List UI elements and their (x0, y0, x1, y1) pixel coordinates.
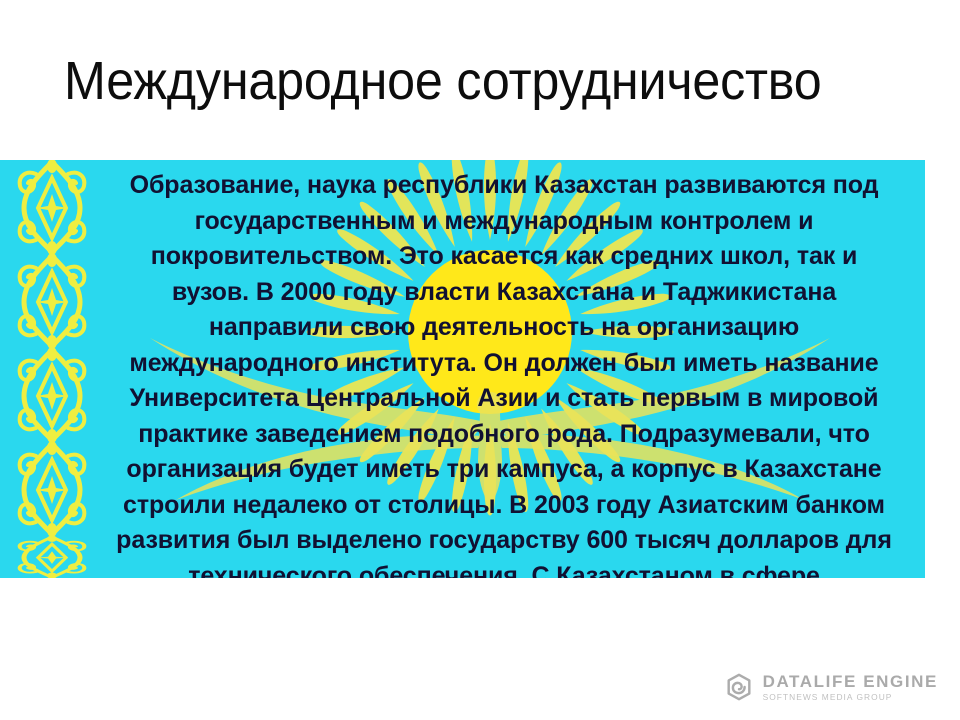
body-line: Университета Центральной Азии и стать пе… (96, 381, 912, 417)
body-line: государственным и международным контроле… (96, 204, 912, 240)
page-title: Международное сотрудничество (64, 48, 864, 114)
body-line: покровительством. Это касается как средн… (96, 239, 912, 275)
watermark: DATALIFE ENGINE SOFTNEWS MEDIA GROUP (724, 672, 938, 702)
body-line: вузов. В 2000 году власти Казахстана и Т… (96, 275, 912, 311)
body-line: развития был выделено государству 600 ты… (96, 523, 912, 559)
slide-canvas: Международное сотрудничество (0, 0, 960, 720)
watermark-subtitle: SOFTNEWS MEDIA GROUP (763, 693, 938, 701)
body-line: технического обеспечения. С Казахстаном … (96, 559, 912, 579)
kazakh-ornament-strip (16, 160, 88, 578)
body-line: международного института. Он должен был … (96, 346, 912, 382)
body-paragraph: Образование, наука республики Казахстан … (96, 168, 912, 578)
body-line: направили свою деятельность на организац… (96, 310, 912, 346)
body-line: практике заведением подобного рода. Подр… (96, 417, 912, 453)
body-line: организация будет иметь три кампуса, а к… (96, 452, 912, 488)
body-line: строили недалеко от столицы. В 2003 году… (96, 488, 912, 524)
body-line: Образование, наука республики Казахстан … (96, 168, 912, 204)
datalife-eye-logo (724, 672, 754, 702)
watermark-title: DATALIFE ENGINE (763, 673, 938, 690)
ornament-repeat (20, 160, 85, 578)
kazakhstan-flag-band: Образование, наука республики Казахстан … (0, 160, 925, 578)
